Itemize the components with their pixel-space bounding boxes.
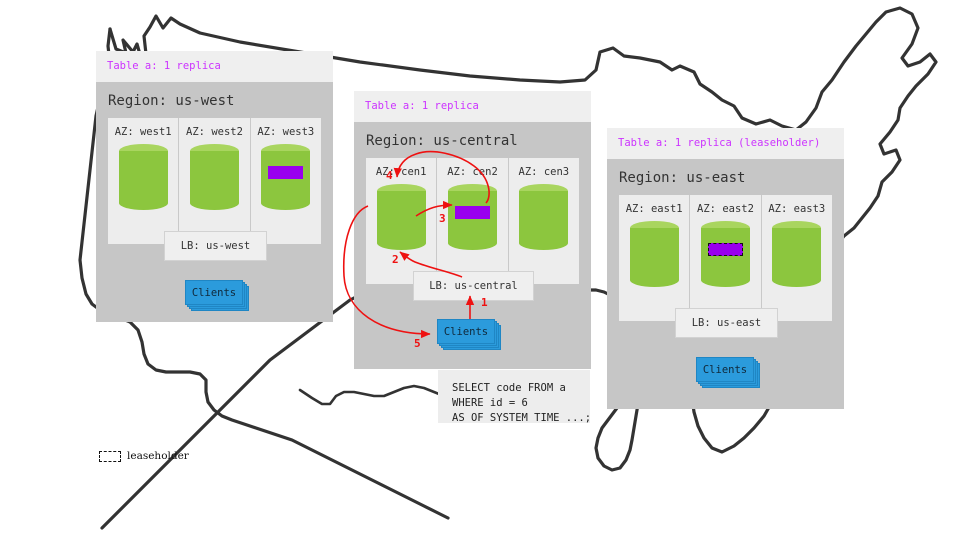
cylinder-body-icon [519,191,568,243]
az-label-cen3: AZ: cen3 [519,158,570,184]
cylinder-body-icon [772,228,821,280]
node-cylinder-east1[interactable] [630,221,679,287]
node-cylinder-east3[interactable] [772,221,821,287]
region-title-us-west: Region: us-west [96,82,333,118]
az-label-east2: AZ: east2 [697,195,754,221]
legend-label: leaseholder [127,450,189,462]
region-title-us-central: Region: us-central [354,122,591,158]
cylinder-body-icon [630,228,679,280]
clients-label: Clients [696,357,754,382]
node-cylinder-cen3[interactable] [519,184,568,250]
leaseholder-swatch-icon [99,451,121,462]
step-label-1: 1 [481,296,488,309]
cylinder-body-icon [190,151,239,203]
region-panel-us-west: Table a: 1 replica Region: us-west AZ: w… [96,51,333,322]
node-cylinder-cen2[interactable] [448,184,497,250]
region-panel-us-central: Table a: 1 replica Region: us-central AZ… [354,91,591,369]
az-cen3[interactable]: AZ: cen3 [509,158,579,284]
az-label-cen1: AZ: cen1 [376,158,427,184]
step-label-3: 3 [439,212,446,225]
az-west3[interactable]: AZ: west3 [251,118,321,244]
clients-stack-us-east[interactable]: Clients [696,357,754,382]
clients-label: Clients [437,319,495,344]
az-west2[interactable]: AZ: west2 [179,118,250,244]
node-cylinder-east2[interactable] [701,221,750,287]
az-cen2[interactable]: AZ: cen2 [437,158,508,284]
az-label-east1: AZ: east1 [626,195,683,221]
node-cylinder-west2[interactable] [190,144,239,210]
az-west1[interactable]: AZ: west1 [108,118,179,244]
load-balancer-us-west[interactable]: LB: us-west [164,231,267,261]
az-east2[interactable]: AZ: east2 [690,195,761,321]
region-caption-us-east: Table a: 1 replica (leaseholder) [607,128,844,159]
region-title-us-east: Region: us-east [607,159,844,195]
clients-stack-us-west[interactable]: Clients [185,280,243,305]
az-label-west1: AZ: west1 [115,118,172,144]
az-row-us-west: AZ: west1 AZ: west2 AZ: west3 [108,118,321,244]
az-east3[interactable]: AZ: east3 [762,195,832,321]
sql-query-box: SELECT code FROM a WHERE id = 6 AS OF SY… [438,370,590,423]
clients-stack-us-central[interactable]: Clients [437,319,495,344]
cylinder-body-icon [119,151,168,203]
node-cylinder-cen1[interactable] [377,184,426,250]
az-row-us-east: AZ: east1 AZ: east2 AZ: east3 [619,195,832,321]
node-cylinder-west1[interactable] [119,144,168,210]
az-label-cen2: AZ: cen2 [447,158,498,184]
clients-label: Clients [185,280,243,305]
step-label-4: 4 [386,169,393,182]
az-cen1[interactable]: AZ: cen1 [366,158,437,284]
step-label-5: 5 [414,337,421,350]
az-label-west2: AZ: west2 [186,118,243,144]
region-panel-us-east: Table a: 1 replica (leaseholder) Region:… [607,128,844,409]
range-replica-west3 [268,166,303,179]
load-balancer-us-east[interactable]: LB: us-east [675,308,778,338]
az-east1[interactable]: AZ: east1 [619,195,690,321]
az-label-east3: AZ: east3 [768,195,825,221]
range-replica-cen2 [455,206,490,219]
region-caption-us-central: Table a: 1 replica [354,91,591,122]
cylinder-body-icon [377,191,426,243]
load-balancer-us-central[interactable]: LB: us-central [413,271,534,301]
diagram-canvas: Table a: 1 replica Region: us-west AZ: w… [0,0,960,540]
step-label-2: 2 [392,253,399,266]
range-leaseholder-east2 [708,243,743,256]
az-label-west3: AZ: west3 [257,118,314,144]
region-caption-us-west: Table a: 1 replica [96,51,333,82]
node-cylinder-west3[interactable] [261,144,310,210]
legend-leaseholder: leaseholder [99,450,189,462]
